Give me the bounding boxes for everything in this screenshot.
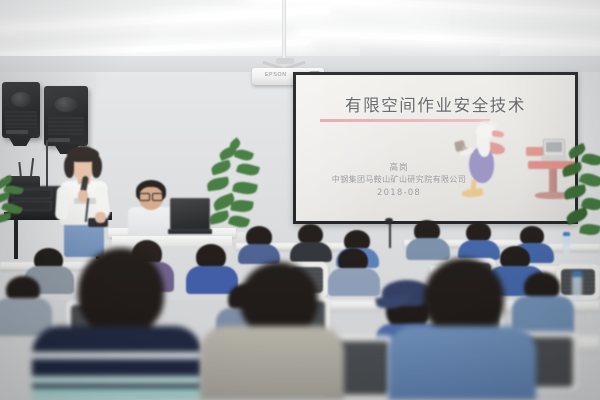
projection-screen: 有限空间作业安全技术 <box>296 75 575 221</box>
projector-pole <box>282 0 286 60</box>
plant-left <box>0 176 28 236</box>
glasses-icon <box>139 193 163 199</box>
audience-torso <box>458 240 500 260</box>
audience-torso <box>290 242 332 262</box>
standing-presenter <box>52 146 116 256</box>
person-in-grey-shirt <box>200 262 344 400</box>
ceiling-vent <box>360 44 500 56</box>
slide-accent-rule <box>320 119 490 122</box>
microphone-stand <box>46 140 48 192</box>
desk-microphone <box>389 222 391 248</box>
slide-organization: 中钢集团马鞍山矿山研究院有限公司 <box>304 174 494 185</box>
slide-title: 有限空间作业安全技术 <box>296 92 575 116</box>
projector-brand-label: EPSON <box>265 72 287 78</box>
presenter-hand <box>95 212 106 223</box>
seminar-room-photo: EPSON 有限空间作业安全技术 <box>0 0 600 400</box>
table-leg <box>588 311 591 335</box>
projection-screen-frame: 有限空间作业安全技术 <box>293 72 578 224</box>
audience-torso <box>238 244 280 264</box>
desk-microphone-head <box>385 218 393 224</box>
slide-date: 2018-08 <box>304 188 494 198</box>
wall-speaker <box>44 86 88 146</box>
laptop[interactable] <box>168 198 212 240</box>
bottle-cap <box>572 271 582 276</box>
person-in-navy-striped-polo <box>32 248 202 400</box>
person-in-blue-work-shirt <box>392 258 532 400</box>
audience-torso <box>406 238 450 260</box>
slide-presenter-name: 高岗 <box>304 161 494 173</box>
water-bottle <box>563 236 570 254</box>
wall-speaker <box>2 82 40 138</box>
water-bottle <box>572 276 582 300</box>
bottle-cap <box>563 232 570 236</box>
